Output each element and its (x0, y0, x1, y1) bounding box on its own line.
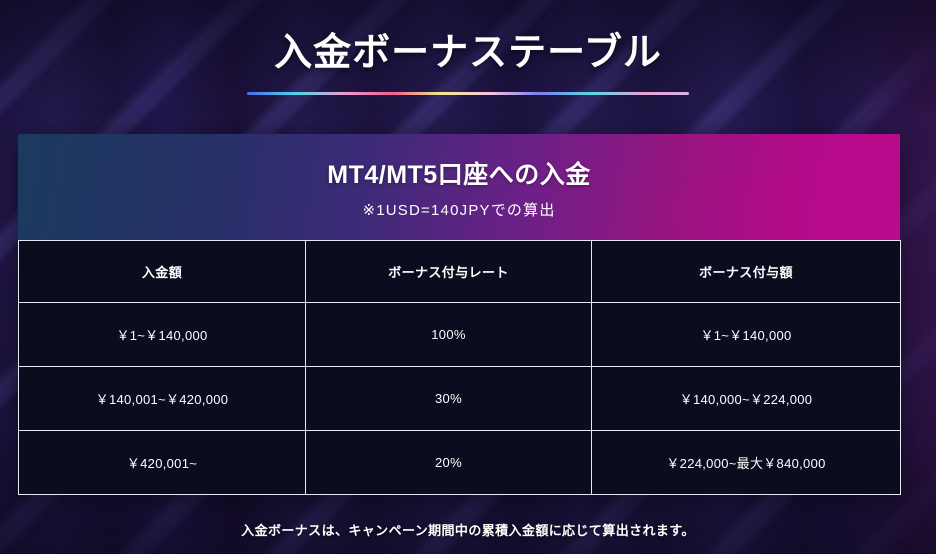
title-underline-gradient (247, 92, 689, 95)
card-header: MT4/MT5口座への入金 ※1USD=140JPYでの算出 (18, 134, 900, 240)
cell-deposit-amount: ￥420,001~ (19, 431, 306, 495)
cell-bonus-amount: ￥224,000~最大￥840,000 (592, 431, 901, 495)
table-header-row: 入金額 ボーナス付与レート ボーナス付与額 (19, 241, 901, 303)
title-block: 入金ボーナステーブル (0, 32, 936, 95)
table-body: ￥1~￥140,000 100% ￥1~￥140,000 ￥140,001~￥4… (19, 303, 901, 495)
column-header-bonus-amount: ボーナス付与額 (592, 241, 901, 303)
cell-deposit-amount: ￥1~￥140,000 (19, 303, 306, 367)
column-header-bonus-rate: ボーナス付与レート (306, 241, 592, 303)
card-title: MT4/MT5口座への入金 (327, 155, 590, 191)
card-subtitle: ※1USD=140JPYでの算出 (362, 199, 555, 220)
table-row: ￥420,001~ 20% ￥224,000~最大￥840,000 (19, 431, 901, 495)
table-row: ￥140,001~￥420,000 30% ￥140,000~￥224,000 (19, 367, 901, 431)
table-head: 入金額 ボーナス付与レート ボーナス付与額 (19, 241, 901, 303)
bonus-table-card: MT4/MT5口座への入金 ※1USD=140JPYでの算出 入金額 ボーナス付… (18, 134, 900, 494)
table-row: ￥1~￥140,000 100% ￥1~￥140,000 (19, 303, 901, 367)
footer-note: 入金ボーナスは、キャンペーン期間中の累積入金額に応じて算出されます。 (0, 520, 936, 539)
deposit-bonus-table: 入金額 ボーナス付与レート ボーナス付与額 ￥1~￥140,000 100% ￥… (18, 240, 901, 495)
cell-bonus-amount: ￥1~￥140,000 (592, 303, 901, 367)
cell-bonus-rate: 30% (306, 367, 592, 431)
cell-bonus-rate: 100% (306, 303, 592, 367)
cell-deposit-amount: ￥140,001~￥420,000 (19, 367, 306, 431)
column-header-deposit-amount: 入金額 (19, 241, 306, 303)
page-root: 入金ボーナステーブル MT4/MT5口座への入金 ※1USD=140JPYでの算… (0, 0, 936, 554)
page-title: 入金ボーナステーブル (0, 32, 936, 76)
cell-bonus-amount: ￥140,000~￥224,000 (592, 367, 901, 431)
cell-bonus-rate: 20% (306, 431, 592, 495)
